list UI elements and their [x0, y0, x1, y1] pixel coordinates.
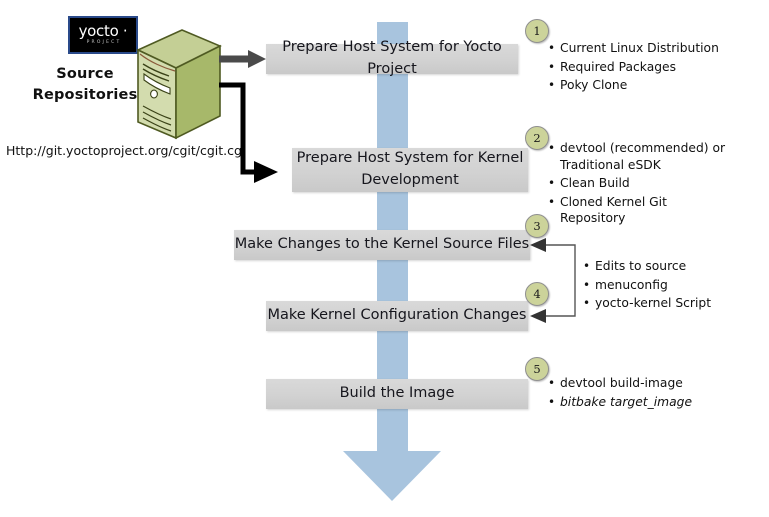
list-item: Edits to source: [583, 258, 763, 275]
bitbake-command: bitbake target_image: [560, 395, 692, 409]
yocto-logo-subtext: PROJECT: [87, 41, 122, 46]
yocto-logo-wordmark: yocto ·: [79, 24, 128, 39]
list-item: Clean Build: [548, 175, 728, 192]
source-repositories-label: Source Repositories: [30, 64, 140, 106]
source-label-line2: Repositories: [30, 85, 140, 106]
arrow-server-to-step1: [219, 50, 266, 68]
step-number-4: 4: [525, 282, 549, 306]
main-flow-arrow-head: [343, 451, 441, 501]
step-5-bullet-list: devtool build-image bitbake target_image: [548, 375, 738, 412]
step-number-3: 3: [525, 214, 549, 238]
list-item-bitbake: bitbake target_image: [548, 394, 738, 411]
diagram-canvas: yocto · PROJECT Source Repositories Http…: [0, 0, 769, 517]
step-box-5[interactable]: Build the Image: [266, 379, 528, 409]
source-repository-url: Http://git.yoctoproject.org/cgit/cgit.cg…: [6, 143, 245, 158]
yocto-project-logo: yocto · PROJECT: [68, 16, 138, 54]
list-item: devtool build-image: [548, 375, 738, 392]
list-item: Poky Clone: [548, 77, 760, 94]
step-number-5: 5: [525, 357, 549, 381]
server-tower-icon: [132, 28, 224, 140]
step-box-2[interactable]: Prepare Host System for Kernel Developme…: [292, 148, 528, 192]
step-box-4[interactable]: Make Kernel Configuration Changes: [266, 301, 528, 331]
list-item: Cloned Kernel Git Repository: [548, 194, 728, 227]
step-number-1: 1: [525, 19, 549, 43]
step-number-2: 2: [525, 126, 549, 150]
list-item: yocto-kernel Script: [583, 295, 763, 312]
list-item: Required Packages: [548, 59, 760, 76]
list-item: Current Linux Distribution: [548, 40, 760, 57]
list-item: devtool (recommended) or Traditional eSD…: [548, 140, 728, 173]
step-2-bullet-list: devtool (recommended) or Traditional eSD…: [548, 140, 728, 229]
steps-3-4-bullet-list: Edits to source menuconfig yocto-kernel …: [583, 258, 763, 314]
step-box-1[interactable]: Prepare Host System for Yocto Project: [266, 44, 518, 74]
arrow-server-to-step2: [219, 85, 278, 183]
list-item: menuconfig: [583, 277, 763, 294]
bracket-steps-3-4: [530, 238, 575, 323]
step-box-3[interactable]: Make Changes to the Kernel Source Files: [234, 230, 530, 260]
step-1-bullet-list: Current Linux Distribution Required Pack…: [548, 40, 760, 96]
source-label-line1: Source: [30, 64, 140, 85]
